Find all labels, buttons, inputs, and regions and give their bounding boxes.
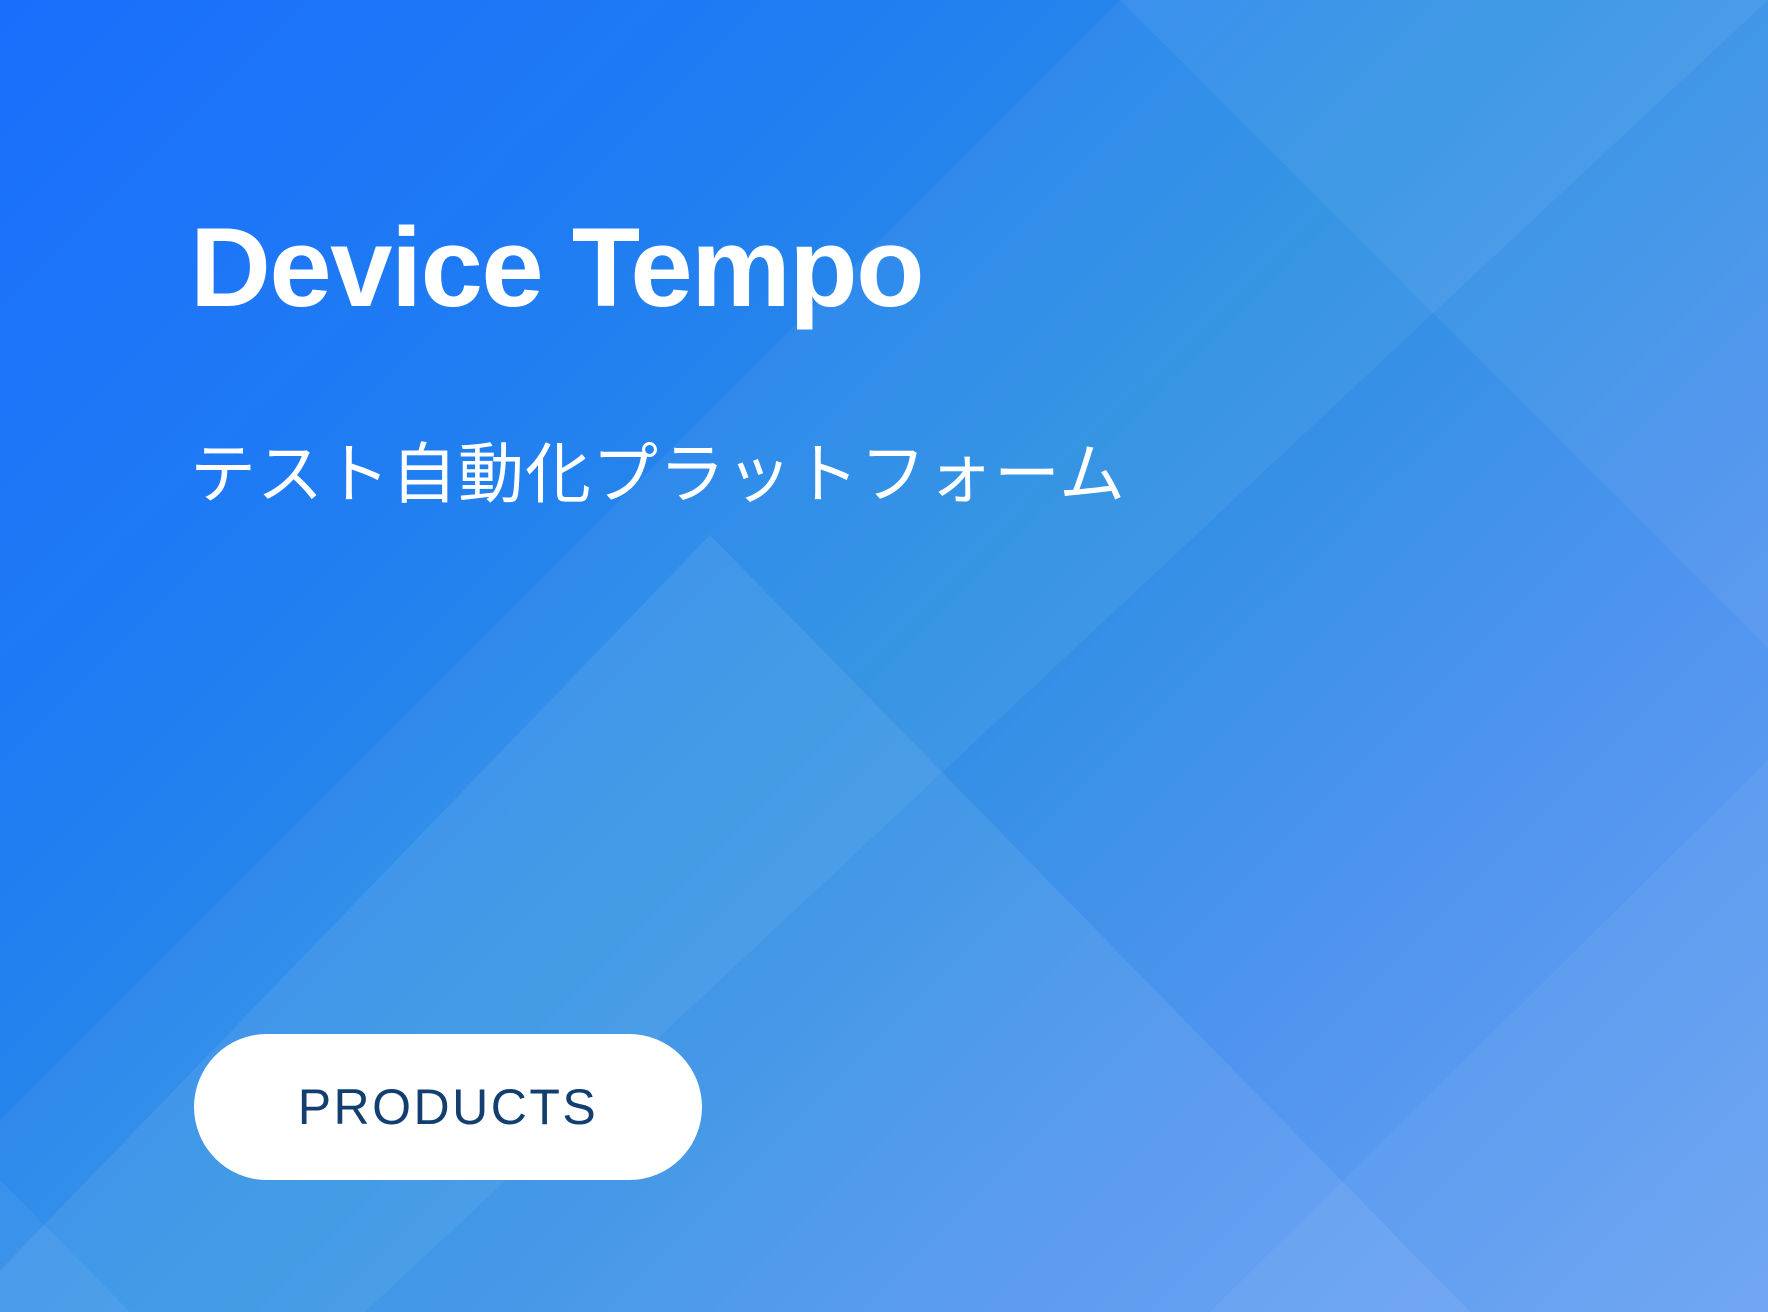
hero-banner: Device Tempo テスト自動化プラットフォーム PRODUCTS [0, 0, 1768, 1312]
hero-content: Device Tempo テスト自動化プラットフォーム PRODUCTS [0, 0, 1768, 1312]
hero-cta-container: PRODUCTS [194, 1034, 702, 1180]
page-title: Device Tempo [190, 212, 923, 324]
hero-subtitle: テスト自動化プラットフォーム [190, 437, 1126, 513]
products-button[interactable]: PRODUCTS [194, 1034, 702, 1180]
